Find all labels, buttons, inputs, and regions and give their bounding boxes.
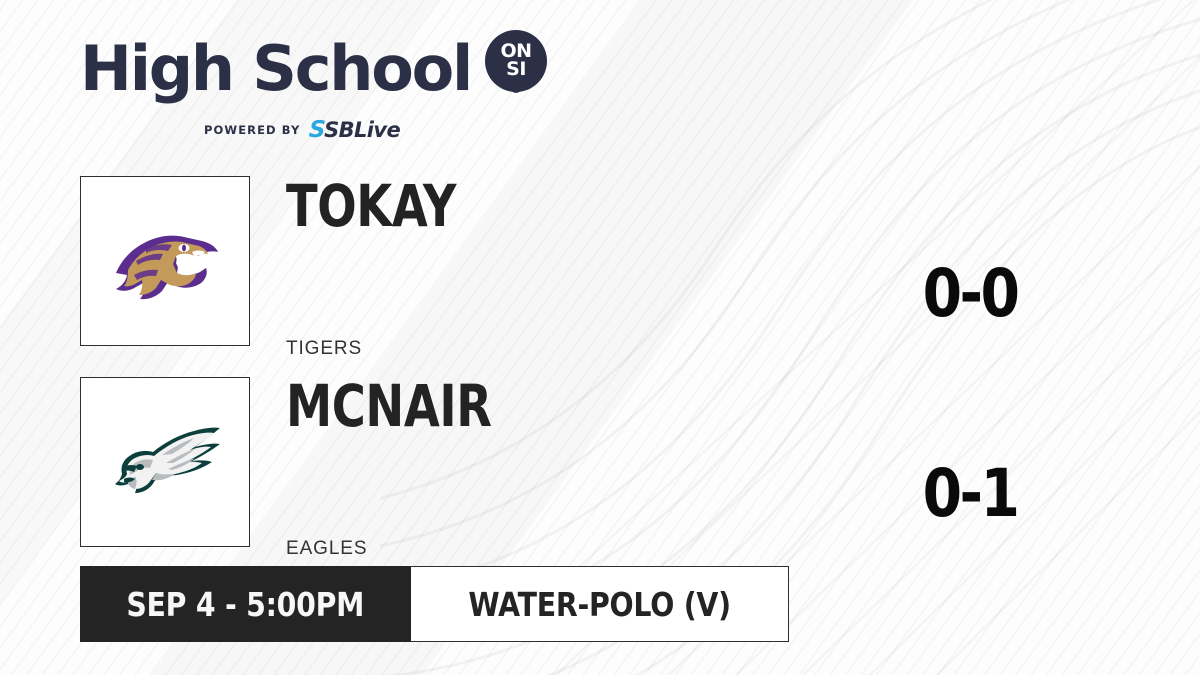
wordmark-row: High School ON SI bbox=[80, 30, 550, 108]
game-datetime-text: SEP 4 - 5:00PM bbox=[127, 585, 365, 624]
team-record-1: 0-1 bbox=[884, 461, 1056, 527]
pin-line-si: SI bbox=[506, 61, 526, 79]
team-name-0: TOKAY bbox=[286, 177, 456, 235]
sblive-wordmark: SBLive bbox=[324, 118, 400, 142]
team-name-1: MCNAIR bbox=[286, 377, 492, 435]
game-sport-text: WATER-POLO (V) bbox=[468, 585, 730, 624]
sblive-s-icon: S bbox=[309, 117, 326, 143]
powered-by-row: POWERED BY S SBLive bbox=[204, 117, 550, 143]
pin-text: ON SI bbox=[485, 30, 547, 92]
high-school-wordmark: High School bbox=[80, 38, 471, 100]
team-logo-box-mcnair bbox=[80, 377, 250, 547]
sblive-logo: S SBLive bbox=[309, 117, 400, 143]
tiger-head-logo bbox=[106, 215, 224, 307]
team-mascot-0: TIGERS bbox=[286, 338, 362, 360]
game-datetime-block: SEP 4 - 5:00PM bbox=[80, 566, 411, 642]
brand-lockup: High School ON SI POWERED BY S SBLive bbox=[80, 30, 550, 143]
team-record-0: 0-0 bbox=[884, 261, 1056, 327]
onsi-pin-icon: ON SI bbox=[485, 30, 547, 108]
eagle-head-logo bbox=[106, 422, 224, 502]
powered-by-label: POWERED BY bbox=[204, 123, 300, 137]
team-logo-box-tokay bbox=[80, 176, 250, 346]
matchup-graphic: High School ON SI POWERED BY S SBLive bbox=[0, 0, 1200, 675]
team-mascot-1: EAGLES bbox=[286, 538, 367, 560]
game-info-bar: SEP 4 - 5:00PM WATER-POLO (V) bbox=[80, 566, 789, 642]
game-sport-block: WATER-POLO (V) bbox=[411, 566, 789, 642]
